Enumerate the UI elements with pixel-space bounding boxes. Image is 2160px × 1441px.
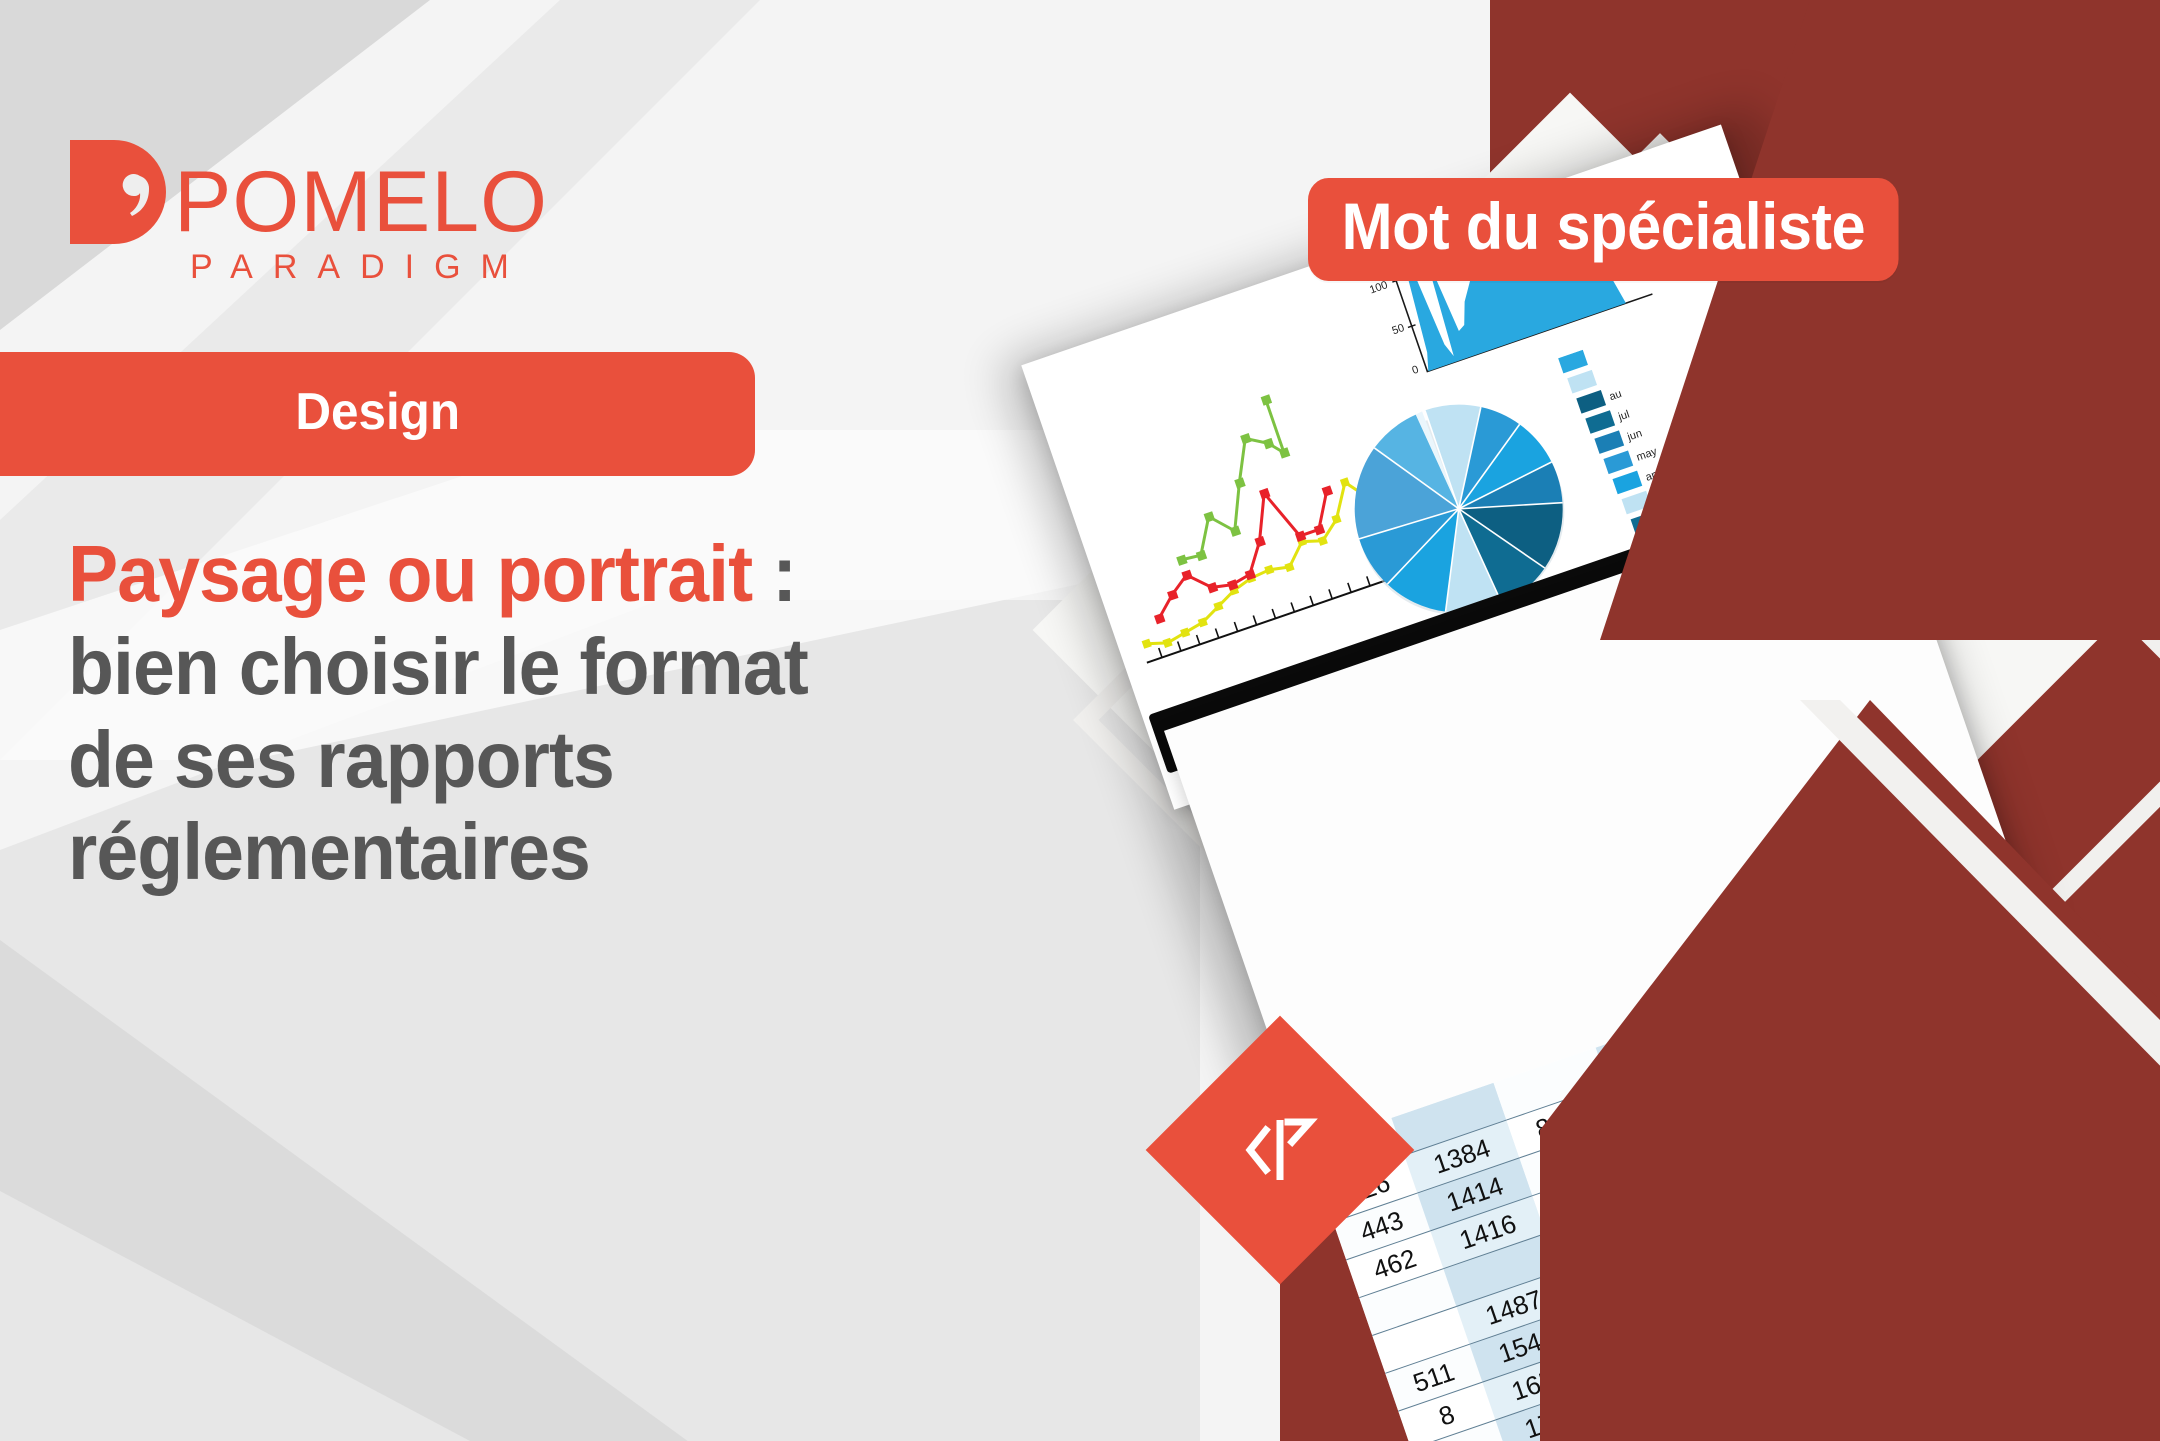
poster-canvas: 100 50 0 bbox=[0, 0, 2160, 1441]
page-title-colon: : bbox=[752, 529, 796, 618]
page-title-accent: Paysage ou portrait bbox=[68, 529, 752, 618]
page-title-line-1: Paysage ou portrait : bbox=[68, 528, 1083, 621]
pomelo-diamond-glyph-icon bbox=[1185, 1055, 1375, 1245]
svg-text:100: 100 bbox=[1368, 279, 1389, 296]
svg-text:may: may bbox=[1635, 445, 1659, 463]
badge-mot-du-specialiste[interactable]: Mot du spécialiste bbox=[1308, 178, 1899, 281]
svg-text:0: 0 bbox=[1411, 364, 1421, 377]
badge-category-design[interactable]: Design bbox=[0, 352, 755, 476]
logo-wordmark: POMELO bbox=[174, 162, 548, 244]
brand-logo[interactable]: POMELO PARADIGM bbox=[70, 140, 548, 287]
page-title-line-4: réglementaires bbox=[68, 806, 1083, 899]
page-title-line-2: bien choisir le format bbox=[68, 621, 1083, 714]
badge-category-label: Design bbox=[295, 382, 460, 442]
page-title: Paysage ou portrait : bien choisir le fo… bbox=[68, 528, 1148, 899]
svg-text:au: au bbox=[1608, 388, 1623, 403]
page-title-line-3: de ses rapports bbox=[68, 714, 1083, 807]
svg-text:50: 50 bbox=[1391, 322, 1406, 337]
svg-text:jun: jun bbox=[1625, 427, 1644, 443]
svg-text:jul: jul bbox=[1616, 408, 1631, 423]
logo-tagline: PARADIGM bbox=[190, 248, 548, 287]
pomelo-speech-comma-mark-icon bbox=[70, 140, 166, 244]
